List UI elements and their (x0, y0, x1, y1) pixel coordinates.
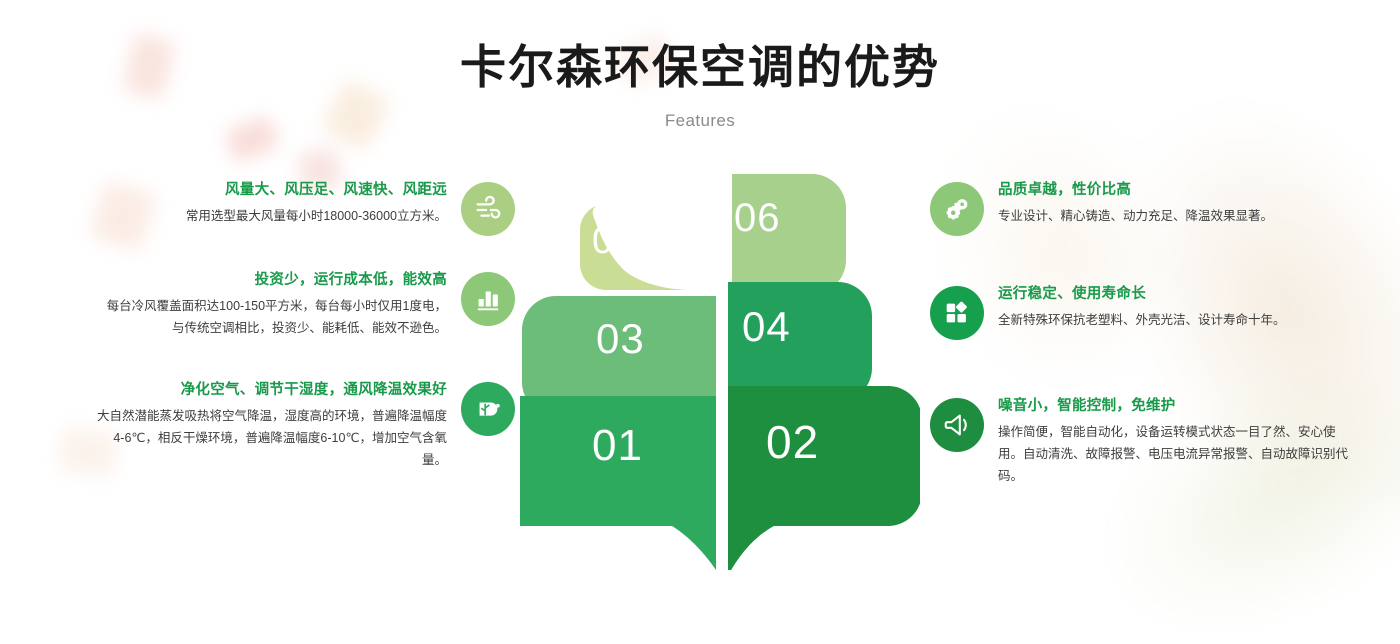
feature-title: 投资少，运行成本低，能效高 (95, 270, 447, 290)
leaf-label: 05 (592, 220, 636, 263)
blocks-icon (930, 286, 984, 340)
feature-title: 净化空气、调节干湿度，通风降温效果好 (95, 380, 447, 400)
feature-text: 投资少，运行成本低，能效高 每台冷风覆盖面积达100-150平方米，每台每小时仅… (95, 270, 461, 340)
infographic-page: 卡尔森环保空调的优势 Features 05 06 03 04 (0, 0, 1400, 644)
leaf-label: 02 (766, 415, 819, 469)
wind-icon (461, 182, 515, 236)
blocks-icon-glyph (942, 298, 972, 328)
feature-item-06[interactable]: 噪音小，智能控制，免维护 操作简便，智能自动化，设备运转模式状态一目了然、安心使… (930, 396, 1350, 488)
feature-item-05[interactable]: 净化空气、调节干湿度，通风降温效果好 大自然潜能蒸发吸热将空气降温，湿度高的环境… (95, 380, 515, 472)
feature-description: 操作简便，智能自动化，设备运转模式状态一目了然、安心使用。自动清洗、故障报警、电… (998, 422, 1350, 488)
wind-icon-glyph (473, 194, 503, 224)
speaker-icon-glyph (942, 410, 972, 440)
feature-title: 品质卓越，性价比高 (998, 180, 1350, 200)
feature-title: 运行稳定、使用寿命长 (998, 284, 1350, 304)
speaker-icon (930, 398, 984, 452)
feature-description: 全新特殊环保抗老塑料、外壳光洁、设计寿命十年。 (998, 310, 1350, 332)
page-header: 卡尔森环保空调的优势 Features (0, 40, 1400, 131)
leaf-number-05[interactable]: 05 (592, 198, 696, 284)
feature-text: 噪音小，智能控制，免维护 操作简便，智能自动化，设备运转模式状态一目了然、安心使… (984, 396, 1350, 488)
leaf-label: 04 (742, 303, 791, 351)
leaf-eco-icon-glyph (473, 394, 503, 424)
feature-text: 运行稳定、使用寿命长 全新特殊环保抗老塑料、外壳光洁、设计寿命十年。 (984, 284, 1350, 332)
leaf-number-04[interactable]: 04 (742, 284, 854, 370)
left-feature-column: 风量大、风压足、风速快、风距远 常用选型最大风量每小时18000-36000立方… (95, 180, 515, 492)
gears-icon (930, 182, 984, 236)
gears-icon-glyph (942, 194, 972, 224)
leaf-number-03[interactable]: 03 (596, 296, 706, 382)
feature-item-03[interactable]: 投资少，运行成本低，能效高 每台冷风覆盖面积达100-150平方米，每台每小时仅… (95, 270, 515, 340)
leaf-number-06[interactable]: 06 (734, 176, 844, 260)
bar-chart-icon (461, 272, 515, 326)
feature-text: 品质卓越，性价比高 专业设计、精心铸造、动力充足、降温效果显著。 (984, 180, 1350, 228)
feature-description: 专业设计、精心铸造、动力充足、降温效果显著。 (998, 206, 1350, 228)
feature-description: 常用选型最大风量每小时18000-36000立方米。 (95, 206, 447, 228)
leaf-label: 06 (734, 196, 781, 241)
feature-item-02[interactable]: 品质卓越，性价比高 专业设计、精心铸造、动力充足、降温效果显著。 (930, 180, 1350, 236)
leaf-label: 03 (596, 315, 645, 363)
leaf-eco-icon (461, 382, 515, 436)
page-subtitle: Features (0, 111, 1400, 131)
page-title: 卡尔森环保空调的优势 (0, 40, 1400, 95)
feature-text: 净化空气、调节干湿度，通风降温效果好 大自然潜能蒸发吸热将空气降温，湿度高的环境… (95, 380, 461, 472)
leaf-cluster-svg (520, 170, 920, 570)
feature-text: 风量大、风压足、风速快、风距远 常用选型最大风量每小时18000-36000立方… (95, 180, 461, 228)
leaf-number-02[interactable]: 02 (766, 392, 886, 492)
feature-title: 风量大、风压足、风速快、风距远 (95, 180, 447, 200)
feature-description: 大自然潜能蒸发吸热将空气降温，湿度高的环境，普遍降温幅度4-6℃，相反干燥环境，… (95, 406, 447, 472)
feature-item-04[interactable]: 运行稳定、使用寿命长 全新特殊环保抗老塑料、外壳光洁、设计寿命十年。 (930, 284, 1350, 340)
feature-description: 每台冷风覆盖面积达100-150平方米，每台每小时仅用1度电，与传统空调相比，投… (95, 296, 447, 340)
leaf-number-01[interactable]: 01 (592, 398, 708, 494)
right-feature-column: 品质卓越，性价比高 专业设计、精心铸造、动力充足、降温效果显著。 运行稳定、使用… (930, 180, 1350, 508)
feature-title: 噪音小，智能控制，免维护 (998, 396, 1350, 416)
bar-chart-icon-glyph (473, 284, 503, 314)
leaf-cluster: 05 06 03 04 01 02 (520, 170, 920, 570)
leaf-label: 01 (592, 421, 643, 471)
feature-item-01[interactable]: 风量大、风压足、风速快、风距远 常用选型最大风量每小时18000-36000立方… (95, 180, 515, 236)
